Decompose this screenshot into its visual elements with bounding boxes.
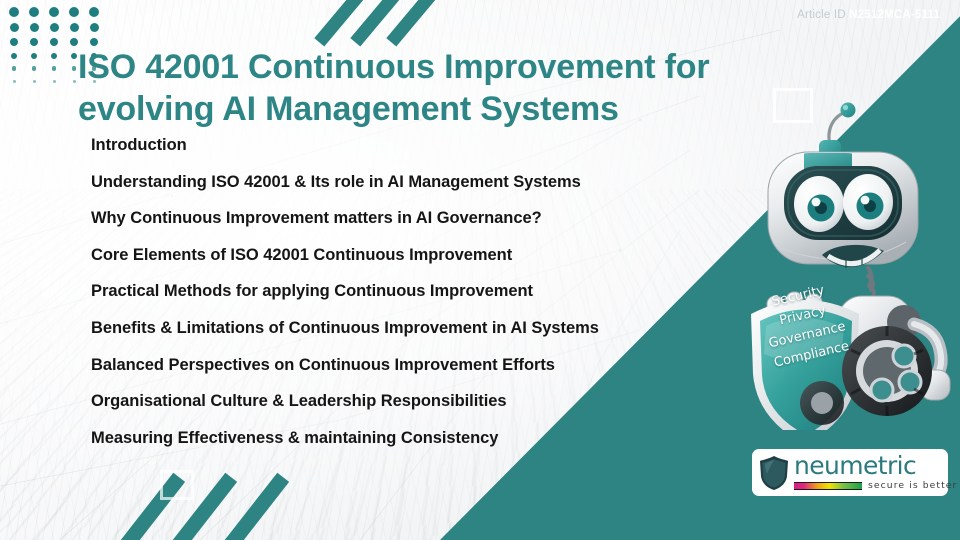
logo-color-bar: [794, 482, 862, 490]
slide-canvas: Article ID N2512MCA-5111 ISO 42001 Conti…: [0, 0, 960, 540]
toc-item[interactable]: Organisational Culture & Leadership Resp…: [91, 392, 731, 410]
article-id: Article ID N2512MCA-5111: [797, 9, 940, 21]
toc-item[interactable]: Practical Methods for applying Continuou…: [91, 282, 731, 300]
logo-text-group: neumetric secure is better: [794, 454, 957, 491]
toc-item[interactable]: Introduction: [91, 136, 731, 154]
shield-icon: [759, 455, 789, 491]
neumetric-logo[interactable]: neumetric secure is better: [752, 449, 948, 496]
logo-bottom-row: secure is better: [794, 480, 957, 491]
article-id-label: Article ID: [797, 9, 846, 21]
toc-item[interactable]: Balanced Perspectives on Continuous Impr…: [91, 356, 731, 374]
logo-tagline: secure is better: [868, 480, 957, 491]
toc-item[interactable]: Measuring Effectiveness & maintaining Co…: [91, 429, 731, 447]
toc-item[interactable]: Core Elements of ISO 42001 Continuous Im…: [91, 246, 731, 264]
toc-item[interactable]: Benefits & Limitations of Continuous Imp…: [91, 319, 731, 337]
article-id-value: N2512MCA-5111: [849, 9, 940, 21]
table-of-contents: Introduction Understanding ISO 42001 & I…: [91, 136, 731, 465]
robot-mascot-illustration: [718, 100, 960, 430]
outline-square-decoration-secondary: [160, 470, 194, 500]
page-title: ISO 42001 Continuous Improvement for evo…: [78, 46, 778, 130]
toc-item[interactable]: Why Continuous Improvement matters in AI…: [91, 209, 731, 227]
diagonal-stripes-top: [330, 0, 470, 46]
logo-wordmark: neumetric: [794, 454, 957, 478]
toc-item[interactable]: Understanding ISO 42001 & Its role in AI…: [91, 173, 731, 191]
